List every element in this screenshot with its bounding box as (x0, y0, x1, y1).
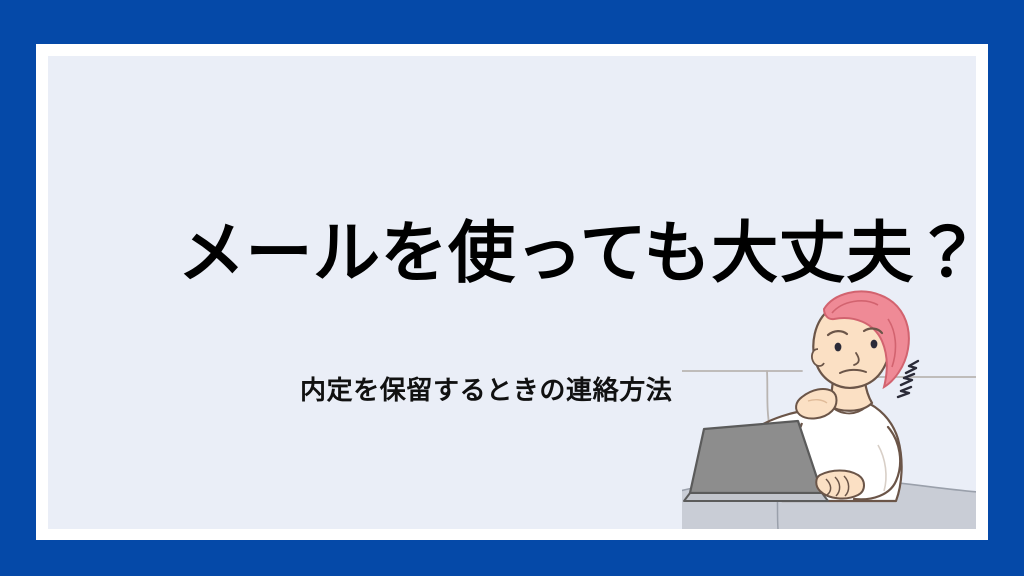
illustration-person-at-laptop (682, 279, 976, 529)
person-head (812, 291, 909, 387)
typing-hand (816, 471, 864, 499)
page-title: メールを使っても大丈夫？ (178, 216, 968, 291)
slide-canvas: メールを使っても大丈夫？ 内定を保留するときの連絡方法 (0, 0, 1024, 576)
content-panel: メールを使っても大丈夫？ 内定を保留するときの連絡方法 (48, 56, 976, 529)
page-subtitle: 内定を保留するときの連絡方法 (300, 374, 672, 408)
